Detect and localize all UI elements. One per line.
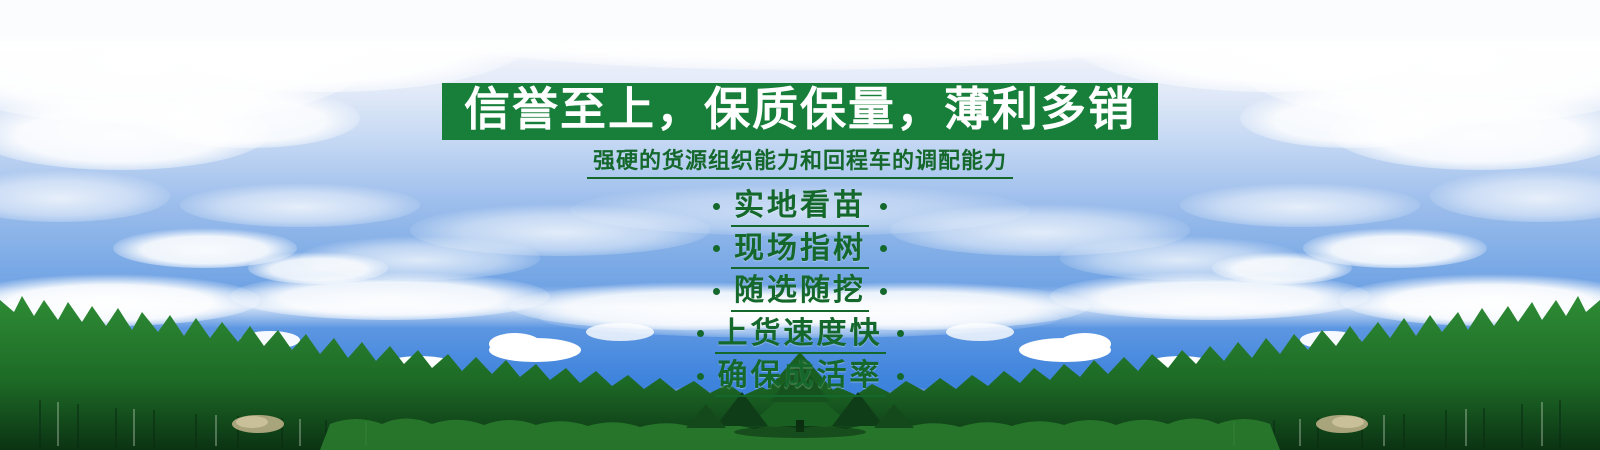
- feature-label: 随选随挖: [734, 274, 866, 309]
- headline-bar: 信誉至上，保质保量，薄利多销: [442, 83, 1158, 140]
- feature-item: 确保成活率: [697, 359, 904, 397]
- bullet-dot-icon: [880, 203, 887, 210]
- bullet-dot-icon: [697, 373, 704, 380]
- feature-label: 现场指树: [734, 232, 866, 267]
- feature-underline: [731, 267, 869, 269]
- feature-item: 上货速度快: [697, 317, 904, 355]
- promo-banner: 信誉至上，保质保量，薄利多销 强硬的货源组织能力和回程车的调配能力 实地看苗 现…: [0, 0, 1600, 450]
- feature-list: 实地看苗 现场指树 随选随挖 上货速度快: [697, 189, 904, 402]
- feature-item: 实地看苗: [713, 189, 887, 227]
- bullet-dot-icon: [897, 373, 904, 380]
- feature-label: 上货速度快: [718, 317, 883, 352]
- subtitle-text: 强硬的货源组织能力和回程车的调配能力: [587, 149, 1013, 179]
- feature-underline: [731, 310, 869, 312]
- feature-underline: [715, 352, 886, 354]
- bullet-dot-icon: [713, 203, 720, 210]
- feature-item: 随选随挖: [713, 274, 887, 312]
- headline-text: 信誉至上，保质保量，薄利多销: [464, 86, 1136, 133]
- feature-underline: [715, 395, 886, 397]
- bullet-dot-icon: [880, 288, 887, 295]
- feature-label: 实地看苗: [734, 189, 866, 224]
- bullet-dot-icon: [880, 245, 887, 252]
- bullet-dot-icon: [897, 330, 904, 337]
- feature-underline: [731, 225, 869, 227]
- bullet-dot-icon: [697, 330, 704, 337]
- bullet-dot-icon: [713, 245, 720, 252]
- bullet-dot-icon: [713, 288, 720, 295]
- feature-label: 确保成活率: [718, 359, 883, 394]
- feature-item: 现场指树: [713, 232, 887, 270]
